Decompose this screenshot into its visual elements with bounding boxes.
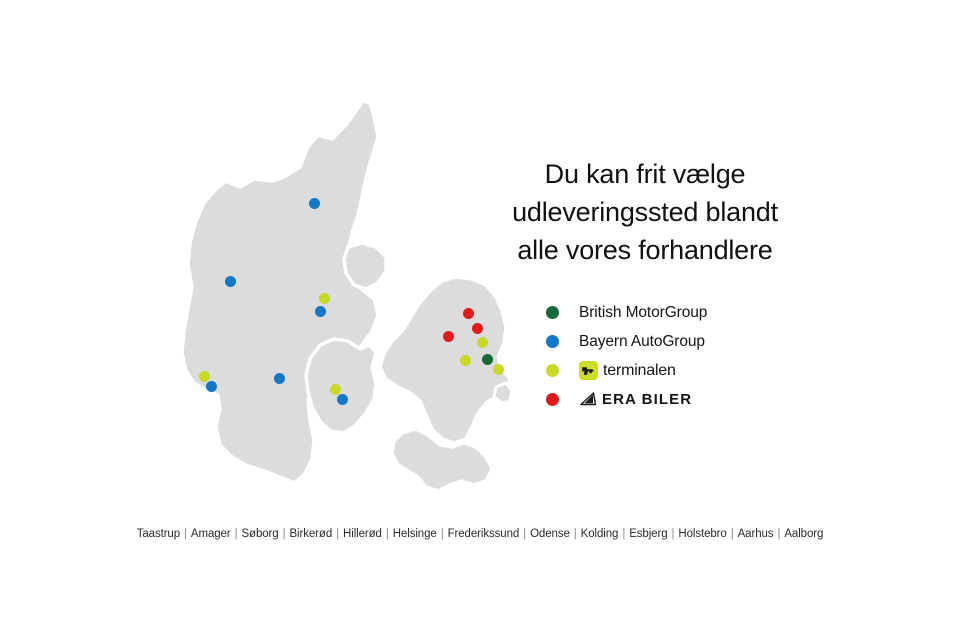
landmass-funen	[306, 339, 376, 433]
city-name-amager: Amager	[190, 528, 232, 540]
city-list: Taastrup|Amager|Søborg|Birkerød|Hillerød…	[0, 528, 960, 540]
city-name-helsinge: Helsinge	[392, 528, 438, 540]
city-name-kolding: Kolding	[580, 528, 620, 540]
map-marker-birker-d[interactable]	[477, 337, 488, 348]
legend-dot-era-biler	[546, 393, 559, 406]
city-name-odense: Odense	[529, 528, 571, 540]
brand-legend: British MotorGroup Bayern AutoGroup term…	[546, 300, 846, 416]
city-separator: |	[438, 528, 447, 540]
legend-label-era-biler: ERA BILER	[602, 391, 692, 408]
map-marker-amager[interactable]	[482, 354, 493, 365]
city-separator: |	[383, 528, 392, 540]
map-marker-aarhus[interactable]	[319, 293, 330, 304]
city-name-esbjerg: Esbjerg	[628, 528, 668, 540]
map-marker-aalborg[interactable]	[309, 198, 320, 209]
page-title: Du kan frit vælge udleveringssted blandt…	[450, 155, 840, 269]
era-biler-triangle-icon	[579, 391, 598, 408]
city-separator: |	[774, 528, 783, 540]
city-name-aarhus: Aarhus	[737, 528, 775, 540]
map-marker-odense[interactable]	[330, 384, 341, 395]
city-separator: |	[520, 528, 529, 540]
legend-item-era-biler: ERA BILER	[546, 387, 846, 412]
terminalen-logo-icon	[579, 361, 598, 380]
map-marker-taastrup[interactable]	[493, 364, 504, 375]
legend-label-terminalen: terminalen	[603, 362, 676, 380]
city-separator: |	[333, 528, 342, 540]
headline-line-1: Du kan frit vælge	[450, 155, 840, 193]
city-separator: |	[619, 528, 628, 540]
map-marker-frederikssund[interactable]	[443, 331, 454, 342]
city-name-s-borg: Søborg	[240, 528, 279, 540]
map-marker-holstebro[interactable]	[225, 276, 236, 287]
map-marker-s-borg[interactable]	[460, 355, 471, 366]
map-marker-hiller-d[interactable]	[472, 323, 483, 334]
headline-line-2: udleveringssted blandt	[450, 193, 840, 231]
city-separator: |	[728, 528, 737, 540]
map-marker-odense[interactable]	[337, 394, 348, 405]
landmass-djursland	[344, 243, 386, 289]
map-marker-helsinge[interactable]	[463, 308, 474, 319]
city-name-aalborg: Aalborg	[783, 528, 824, 540]
landmass-small-island-east	[494, 383, 510, 403]
city-name-hiller-d: Hillerød	[342, 528, 383, 540]
map-infographic: Du kan frit vælge udleveringssted blandt…	[0, 0, 960, 640]
city-name-birker-d: Birkerød	[288, 528, 333, 540]
city-name-taastrup: Taastrup	[136, 528, 181, 540]
legend-dot-bayern-autogroup	[546, 335, 559, 348]
legend-dot-terminalen	[546, 364, 559, 377]
map-marker-aarhus[interactable]	[315, 306, 326, 317]
city-name-frederikssund: Frederikssund	[447, 528, 521, 540]
legend-label-british-motorgroup: British MotorGroup	[579, 304, 707, 322]
map-marker-kolding[interactable]	[274, 373, 285, 384]
map-marker-esbjerg[interactable]	[199, 371, 210, 382]
legend-dot-british-motorgroup	[546, 306, 559, 319]
legend-item-terminalen: terminalen	[546, 358, 846, 383]
city-name-holstebro: Holstebro	[677, 528, 727, 540]
city-separator: |	[571, 528, 580, 540]
map-marker-esbjerg[interactable]	[206, 381, 217, 392]
headline-line-3: alle vores forhandlere	[450, 231, 840, 269]
legend-item-british-motorgroup: British MotorGroup	[546, 300, 846, 325]
city-separator: |	[181, 528, 190, 540]
legend-label-bayern-autogroup: Bayern AutoGroup	[579, 333, 705, 351]
legend-item-bayern-autogroup: Bayern AutoGroup	[546, 329, 846, 354]
